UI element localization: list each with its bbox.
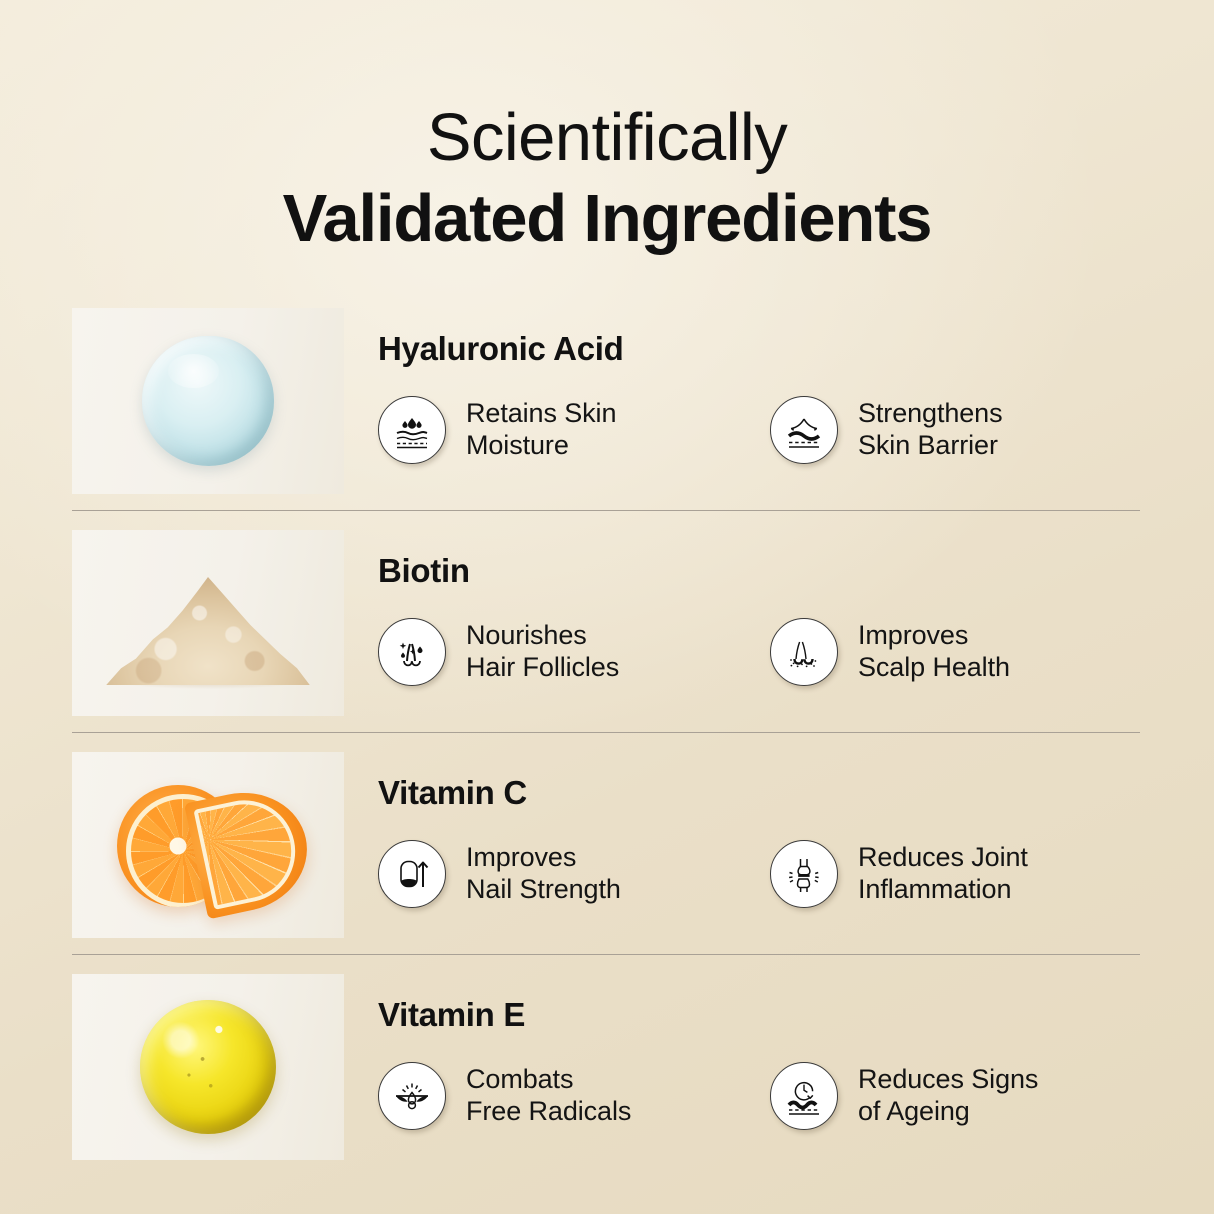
benefit-item: Nourishes Hair Follicles [378,618,619,686]
benefit-label: Combats Free Radicals [466,1064,631,1128]
ingredient-title: Vitamin E [378,996,525,1034]
infographic-page: Scientifically Validated Ingredients Hya… [0,0,1214,1214]
ingredient-title: Vitamin C [378,774,527,812]
orange-wedge [184,781,318,920]
ingredient-title: Biotin [378,552,470,590]
benefit-item: Reduces Signs of Ageing [770,1062,1038,1130]
row-divider [72,954,1140,955]
skin-moisture-droplets-icon [378,396,446,464]
benefit-label: Retains Skin Moisture [466,398,616,462]
anti-ageing-clock-icon [770,1062,838,1130]
benefit-item: Improves Nail Strength [378,840,621,908]
page-title: Scientifically Validated Ingredients [0,104,1214,252]
nail-strength-arrow-icon [378,840,446,908]
ingredient-image-panel [72,974,344,1160]
ingredient-image-panel [72,308,344,494]
benefit-label: Nourishes Hair Follicles [466,620,619,684]
title-line-two: Validated Ingredients [0,185,1214,252]
joint-inflammation-knee-icon [770,840,838,908]
ingredient-image-panel [72,530,344,716]
benefit-label: Reduces Signs of Ageing [858,1064,1038,1128]
ingredient-title: Hyaluronic Acid [378,330,624,368]
benefit-item: Combats Free Radicals [378,1062,631,1130]
benefit-item: Reduces Joint Inflammation [770,840,1028,908]
benefit-item: Retains Skin Moisture [378,396,616,464]
title-line-one: Scientifically [0,104,1214,171]
hyaluronic-acid-gel-drop-photo [142,336,274,466]
row-divider [72,510,1140,511]
benefit-label: Reduces Joint Inflammation [858,842,1028,906]
orange-fruit-photo [105,775,311,915]
ingredient-row-vitamin-c: Vitamin C Improves Nail Strength [72,752,1140,938]
benefit-label: Improves Scalp Health [858,620,1010,684]
ingredient-row-hyaluronic-acid: Hyaluronic Acid Retains Skin Moisture [72,308,1140,494]
ingredient-row-biotin: Biotin Nourishes Hair Follicles [72,530,1140,716]
hair-follicle-nourish-icon [378,618,446,686]
vitamin-e-oil-drop-photo [140,1000,276,1134]
free-radicals-molecule-icon [378,1062,446,1130]
row-divider [72,732,1140,733]
powder-mound [102,565,314,685]
biotin-powder-photo [102,561,314,685]
benefit-label: Improves Nail Strength [466,842,621,906]
benefit-item: Improves Scalp Health [770,618,1010,686]
ingredient-image-panel [72,752,344,938]
benefit-item: Strengthens Skin Barrier [770,396,1003,464]
skin-barrier-shield-icon [770,396,838,464]
ingredient-row-vitamin-e: Vitamin E Combats Free Radicals [72,974,1140,1160]
scalp-health-follicle-icon [770,618,838,686]
benefit-label: Strengthens Skin Barrier [858,398,1003,462]
